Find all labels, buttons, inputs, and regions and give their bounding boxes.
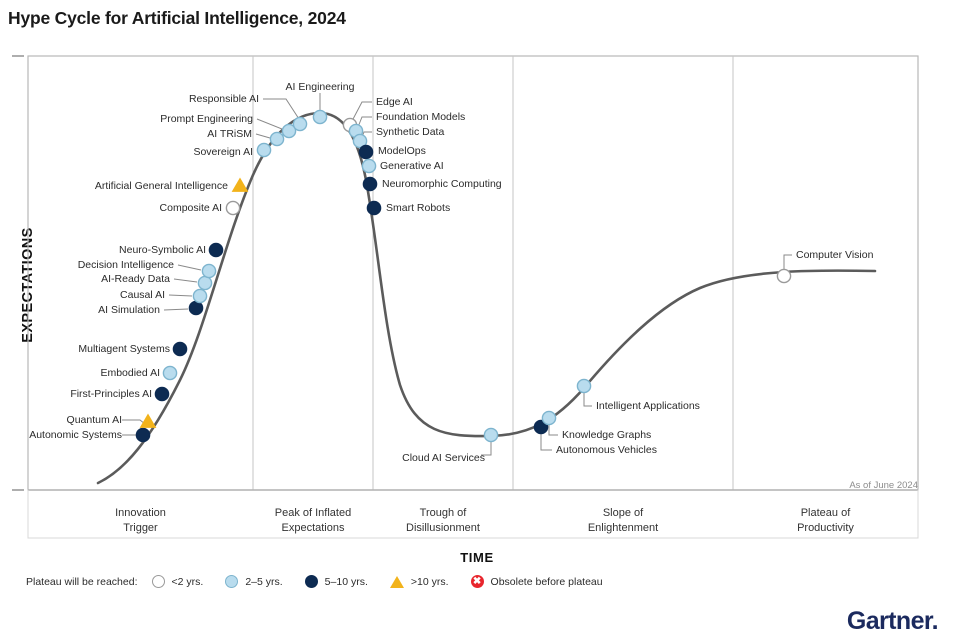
- data-point-neuro-symbolic-ai[interactable]: [209, 243, 222, 256]
- data-point-neuromorphic-computing[interactable]: [363, 177, 376, 190]
- hype-curve: [98, 113, 875, 483]
- hype-cycle-figure: Hype Cycle for Artificial Intelligence, …: [0, 0, 954, 644]
- legend-label: 2–5 yrs.: [245, 576, 282, 588]
- data-point-cloud-ai-services[interactable]: [484, 428, 497, 441]
- legend-item-obsolete: ✖ Obsolete before plateau: [471, 575, 603, 588]
- data-point-embodied-ai[interactable]: [163, 366, 176, 379]
- label-cloud-ai-services: Cloud AI Services: [402, 452, 485, 464]
- data-point-artificial-general-intelligence[interactable]: [233, 179, 248, 192]
- label-smart-robots: Smart Robots: [386, 202, 450, 214]
- data-point-first-principles-ai[interactable]: [155, 387, 168, 400]
- gartner-logo: Gartner.: [847, 607, 938, 636]
- legend-item-gt10yrs: >10 yrs.: [390, 576, 449, 588]
- label-embodied-ai: Embodied AI: [100, 367, 160, 379]
- data-point-markers: [136, 110, 790, 441]
- legend: Plateau will be reached: <2 yrs. 2–5 yrs…: [26, 575, 625, 588]
- label-prompt-engineering: Prompt Engineering: [160, 113, 253, 125]
- data-point-ai-simulation[interactable]: [189, 301, 202, 314]
- data-point-causal-ai[interactable]: [193, 289, 206, 302]
- legend-item-2to5yrs: 2–5 yrs.: [225, 575, 282, 588]
- data-point-ai-trism[interactable]: [270, 132, 283, 145]
- legend-title: Plateau will be reached:: [26, 576, 138, 588]
- data-point-generative-ai[interactable]: [362, 159, 375, 172]
- data-point-computer-vision[interactable]: [777, 269, 790, 282]
- label-generative-ai: Generative AI: [380, 160, 444, 172]
- hype-cycle-plot: [0, 0, 954, 644]
- label-causal-ai: Causal AI: [120, 289, 165, 301]
- label-intelligent-applications: Intelligent Applications: [596, 400, 700, 412]
- label-ai-ready-data: AI-Ready Data: [101, 273, 170, 285]
- data-point-ai-engineering[interactable]: [313, 110, 326, 123]
- data-point-smart-robots[interactable]: [367, 201, 380, 214]
- legend-label: Obsolete before plateau: [491, 576, 603, 588]
- triangle-yellow-icon: [390, 576, 404, 588]
- phase-label-plateau-of-productivity: Plateau ofProductivity: [733, 506, 918, 536]
- label-autonomic-systems: Autonomic Systems: [29, 429, 122, 441]
- label-edge-ai: Edge AI: [376, 96, 413, 108]
- obsolete-x-icon: ✖: [471, 575, 484, 588]
- data-point-decision-intelligence[interactable]: [202, 264, 215, 277]
- legend-item-5to10yrs: 5–10 yrs.: [305, 575, 368, 588]
- label-synthetic-data: Synthetic Data: [376, 126, 444, 138]
- data-point-autonomic-systems[interactable]: [136, 428, 149, 441]
- legend-label: <2 yrs.: [172, 576, 204, 588]
- phase-label-trough-of-disillusionment: Trough ofDisillusionment: [373, 506, 513, 536]
- label-ai-trism: AI TRiSM: [207, 128, 252, 140]
- data-point-modelops[interactable]: [359, 145, 372, 158]
- label-knowledge-graphs: Knowledge Graphs: [562, 429, 651, 441]
- legend-label: 5–10 yrs.: [325, 576, 368, 588]
- circle-navy-icon: [305, 575, 318, 588]
- label-neuro-symbolic-ai: Neuro-Symbolic AI: [119, 244, 206, 256]
- label-modelops: ModelOps: [378, 145, 426, 157]
- label-decision-intelligence: Decision Intelligence: [78, 259, 174, 271]
- label-ai-engineering: AI Engineering: [286, 81, 355, 93]
- data-point-intelligent-applications[interactable]: [577, 379, 590, 392]
- data-point-responsible-ai[interactable]: [293, 117, 306, 130]
- label-composite-ai: Composite AI: [160, 202, 222, 214]
- phase-label-innovation-trigger: InnovationTrigger: [28, 506, 253, 536]
- circle-light-blue-icon: [225, 575, 238, 588]
- label-autonomous-vehicles: Autonomous Vehicles: [556, 444, 657, 456]
- label-neuromorphic-computing: Neuromorphic Computing: [382, 178, 502, 190]
- data-point-sovereign-ai[interactable]: [257, 143, 270, 156]
- label-computer-vision: Computer Vision: [796, 249, 873, 261]
- label-quantum-ai: Quantum AI: [67, 414, 122, 426]
- legend-label: >10 yrs.: [411, 576, 449, 588]
- circle-white-icon: [152, 575, 165, 588]
- label-artificial-general-intelligence: Artificial General Intelligence: [95, 180, 228, 192]
- label-ai-simulation: AI Simulation: [98, 304, 160, 316]
- label-first-principles-ai: First-Principles AI: [70, 388, 152, 400]
- label-sovereign-ai: Sovereign AI: [193, 146, 253, 158]
- label-responsible-ai: Responsible AI: [189, 93, 259, 105]
- legend-item-lt2yrs: <2 yrs.: [152, 575, 204, 588]
- data-point-composite-ai[interactable]: [226, 201, 239, 214]
- data-point-quantum-ai[interactable]: [141, 415, 156, 428]
- data-point-knowledge-graphs[interactable]: [542, 411, 555, 424]
- label-multiagent-systems: Multiagent Systems: [78, 343, 170, 355]
- data-point-ai-ready-data[interactable]: [198, 276, 211, 289]
- phase-label-slope-of-enlightenment: Slope ofEnlightenment: [513, 506, 733, 536]
- data-point-multiagent-systems[interactable]: [173, 342, 186, 355]
- label-foundation-models: Foundation Models: [376, 111, 465, 123]
- phase-label-peak-of-inflated-expectations: Peak of InflatedExpectations: [253, 506, 373, 536]
